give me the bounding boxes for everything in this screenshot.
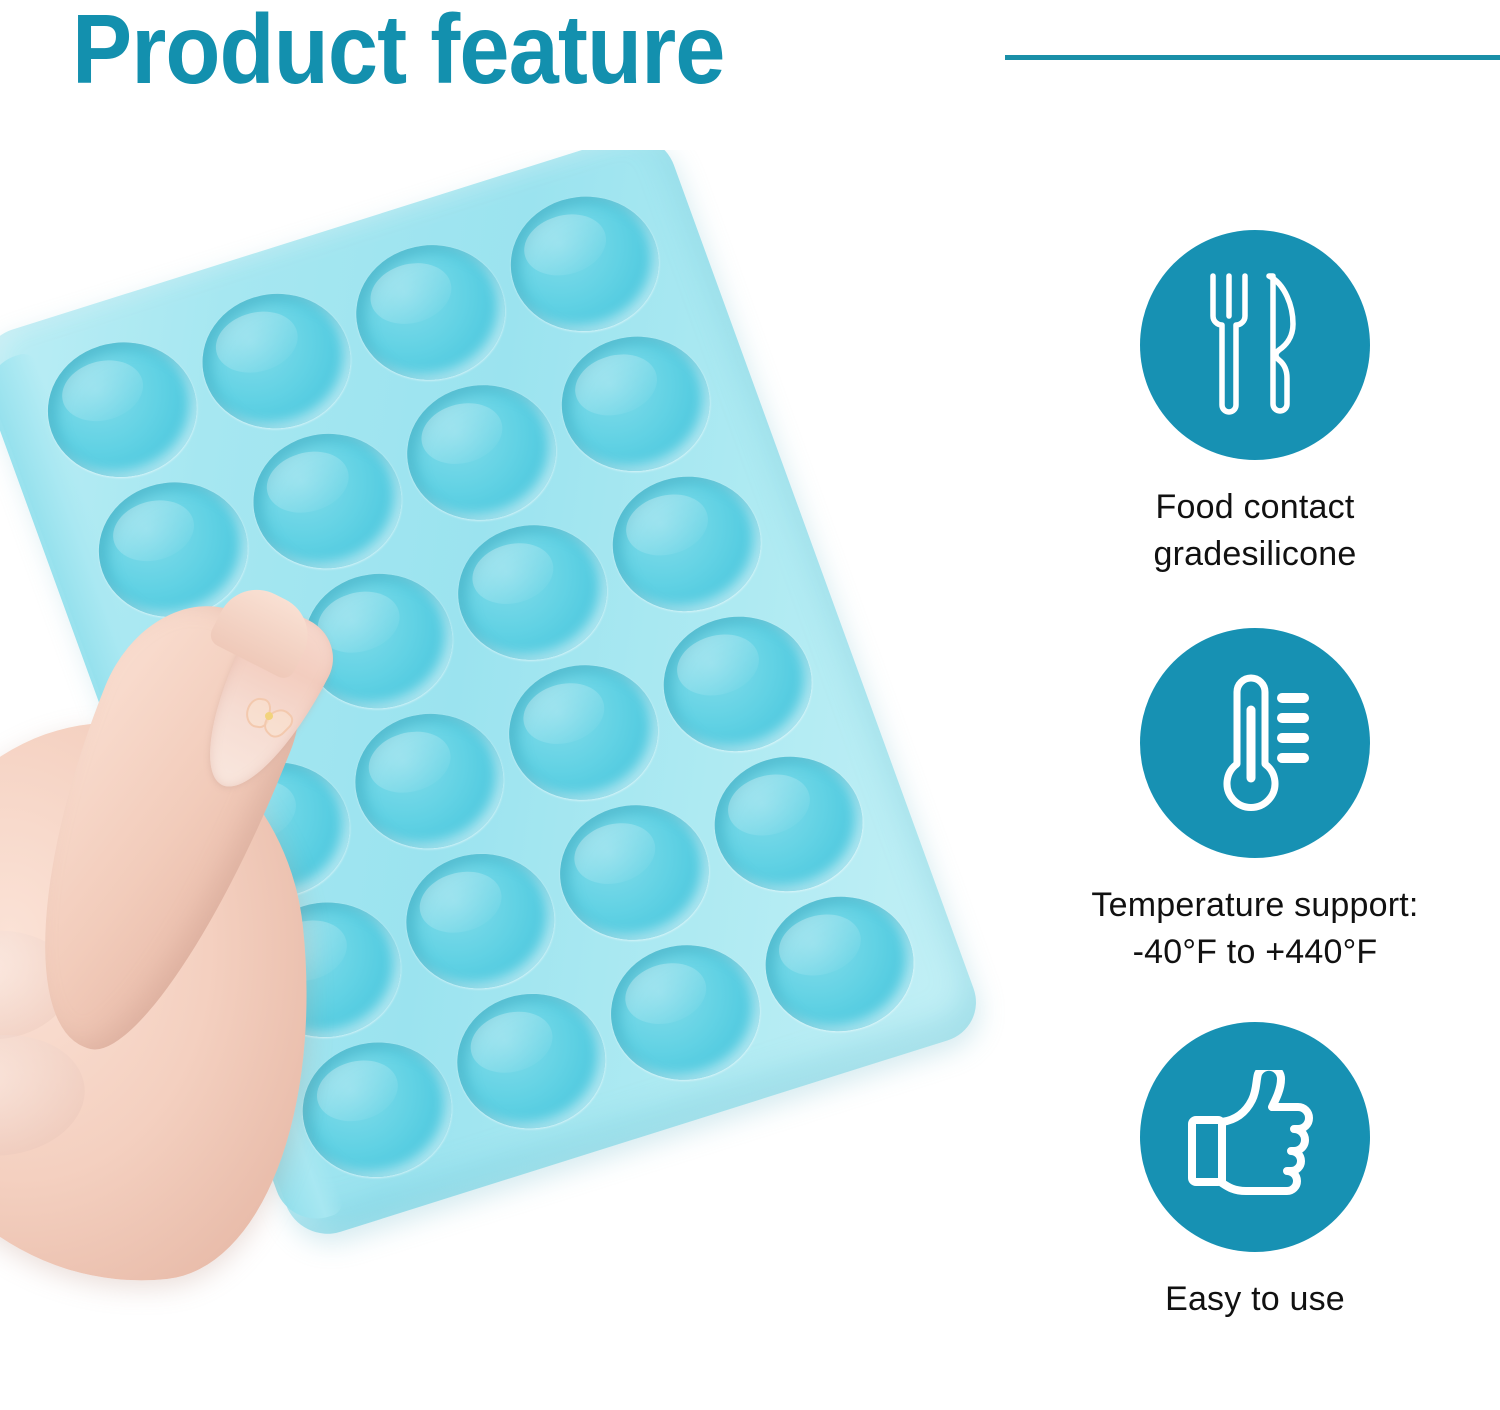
page-title: Product feature <box>72 0 724 104</box>
feature-icon-badge <box>1140 628 1370 858</box>
mold-cavity <box>388 367 575 538</box>
feature-label: Food contact gradesilicone <box>1010 484 1500 578</box>
hand-holding-mold <box>0 605 400 1305</box>
fork-and-knife-icon <box>1195 270 1315 420</box>
feature-food-contact: Food contact gradesilicone <box>1010 230 1500 578</box>
nail-bow-knot <box>264 711 275 722</box>
feature-label-line2: gradesilicone <box>1010 531 1500 578</box>
product-photo <box>0 150 1040 1410</box>
thumbs-up-icon <box>1180 1070 1330 1205</box>
feature-temperature-support: Temperature support: -40°F to +440°F <box>1010 628 1500 976</box>
mold-cavity <box>234 416 421 587</box>
feature-label: Temperature support: -40°F to +440°F <box>1010 882 1500 976</box>
mold-cavity <box>490 647 677 818</box>
feature-label-line1: Temperature support: <box>1091 886 1418 924</box>
thermometer-icon <box>1190 668 1320 818</box>
page-header: Product feature <box>0 0 1500 115</box>
feature-icon-badge <box>1140 230 1370 460</box>
title-divider-rule <box>1005 55 1500 60</box>
mold-cavity <box>541 787 728 958</box>
feature-label-line1: Food contact <box>1156 488 1355 526</box>
feature-list: Food contact gradesilicone <box>1010 200 1500 1380</box>
mold-cavity <box>387 836 574 1007</box>
product-feature-page: Product feature <box>0 0 1500 1410</box>
feature-label-line2: -40°F to +440°F <box>1010 929 1500 976</box>
knuckle <box>0 1027 91 1164</box>
feature-icon-badge <box>1140 1022 1370 1252</box>
feature-easy-to-use: Easy to use <box>1010 1022 1500 1323</box>
feature-label-line1: Easy to use <box>1165 1280 1345 1318</box>
mold-cavity <box>439 507 626 678</box>
feature-label: Easy to use <box>1010 1276 1500 1323</box>
